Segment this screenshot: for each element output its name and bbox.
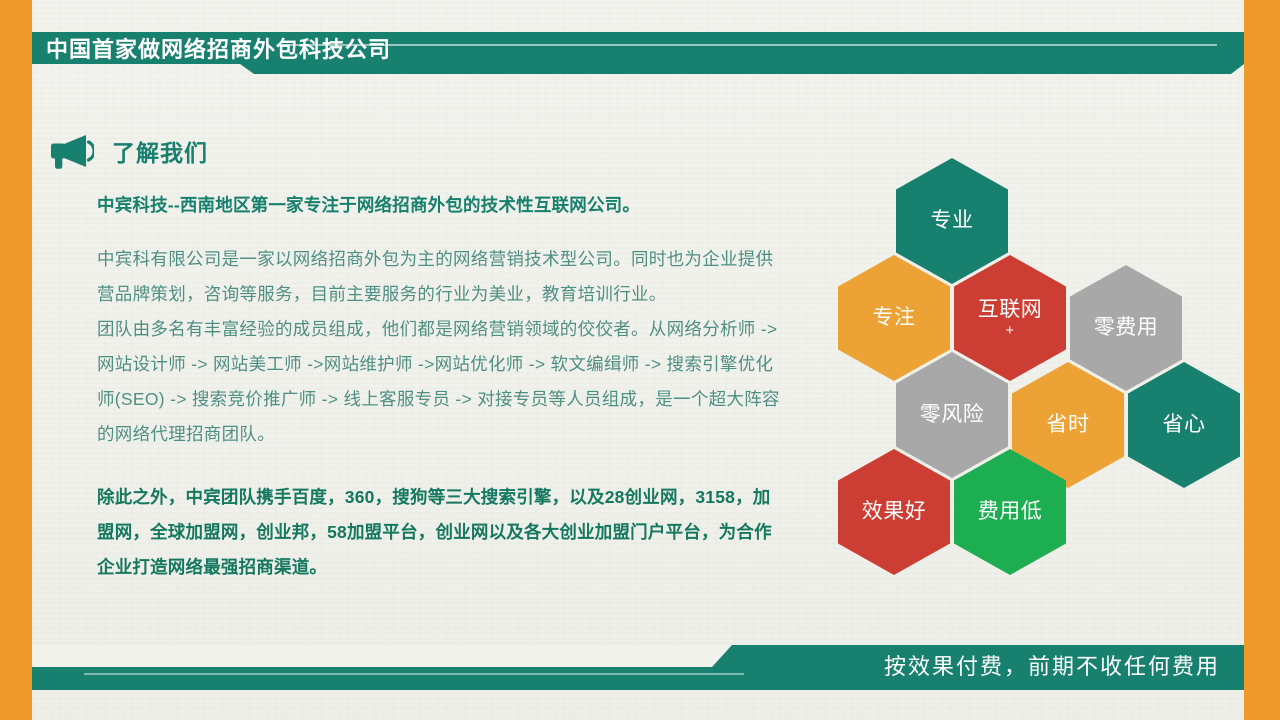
about-paragraph-2: 团队由多名有丰富经验的成员组成，他们都是网络营销领域的佼佼者。从网络分析师 ->… — [97, 312, 787, 452]
slide-root: 中国首家做网络招商外包科技公司 了解我们 中宾科技--西南地区第一家专注于网络招… — [0, 0, 1280, 720]
section-heading-label: 了解我们 — [112, 134, 208, 168]
about-closing-paragraph: 除此之外，中宾团队携手百度，360，搜狗等三大搜索引擎，以及28创业网，3158… — [97, 480, 787, 585]
footer-divider-line — [84, 673, 744, 675]
hexagon-label: 省时 — [1047, 412, 1090, 438]
header: 中国首家做网络招商外包科技公司 — [32, 32, 1244, 74]
about-lead-paragraph: 中宾科技--西南地区第一家专注于网络招商外包的技术性互联网公司。 — [97, 190, 787, 220]
about-paragraph-1: 中宾科有限公司是一家以网络招商外包为主的网络营销技术型公司。同时也为企业提供营品… — [97, 242, 787, 312]
hexagon-plus-symbol: + — [978, 323, 1043, 339]
hexagon-label: 零费用 — [1094, 315, 1159, 341]
header-title: 中国首家做网络招商外包科技公司 — [46, 36, 391, 64]
about-text-column: 中宾科技--西南地区第一家专注于网络招商外包的技术性互联网公司。 中宾科有限公司… — [97, 190, 787, 585]
hexagon-label: 零风险 — [920, 402, 985, 428]
hexagon-label: 专注 — [873, 305, 916, 331]
hexagon-label: 费用低 — [978, 499, 1043, 525]
hexagon-tile[interactable]: 零费用 — [1070, 265, 1182, 391]
footer: 按效果付费，前期不收任何费用 — [32, 645, 1244, 690]
section-heading: 了解我们 — [48, 133, 208, 169]
hexagon-tile[interactable]: 互联网+ — [954, 255, 1066, 381]
hexagon-label: 省心 — [1163, 412, 1206, 438]
hexagon-tile[interactable]: 省心 — [1128, 362, 1240, 488]
hexagon-label: 互联网 — [978, 297, 1043, 323]
hexagon-tile[interactable]: 专业 — [896, 158, 1008, 284]
header-divider-line — [277, 44, 1217, 46]
footer-tagline: 按效果付费，前期不收任何费用 — [884, 651, 1220, 683]
hexagon-tile[interactable]: 专注 — [838, 255, 950, 381]
hexagon-label: 专业 — [931, 208, 974, 234]
hexagon-tile[interactable]: 零风险 — [896, 352, 1008, 478]
hexagon-keyword-cluster: 专业专注互联网+零费用零风险省时省心效果好费用低 — [830, 150, 1250, 550]
megaphone-icon — [48, 133, 94, 169]
hexagon-label: 效果好 — [862, 499, 927, 525]
